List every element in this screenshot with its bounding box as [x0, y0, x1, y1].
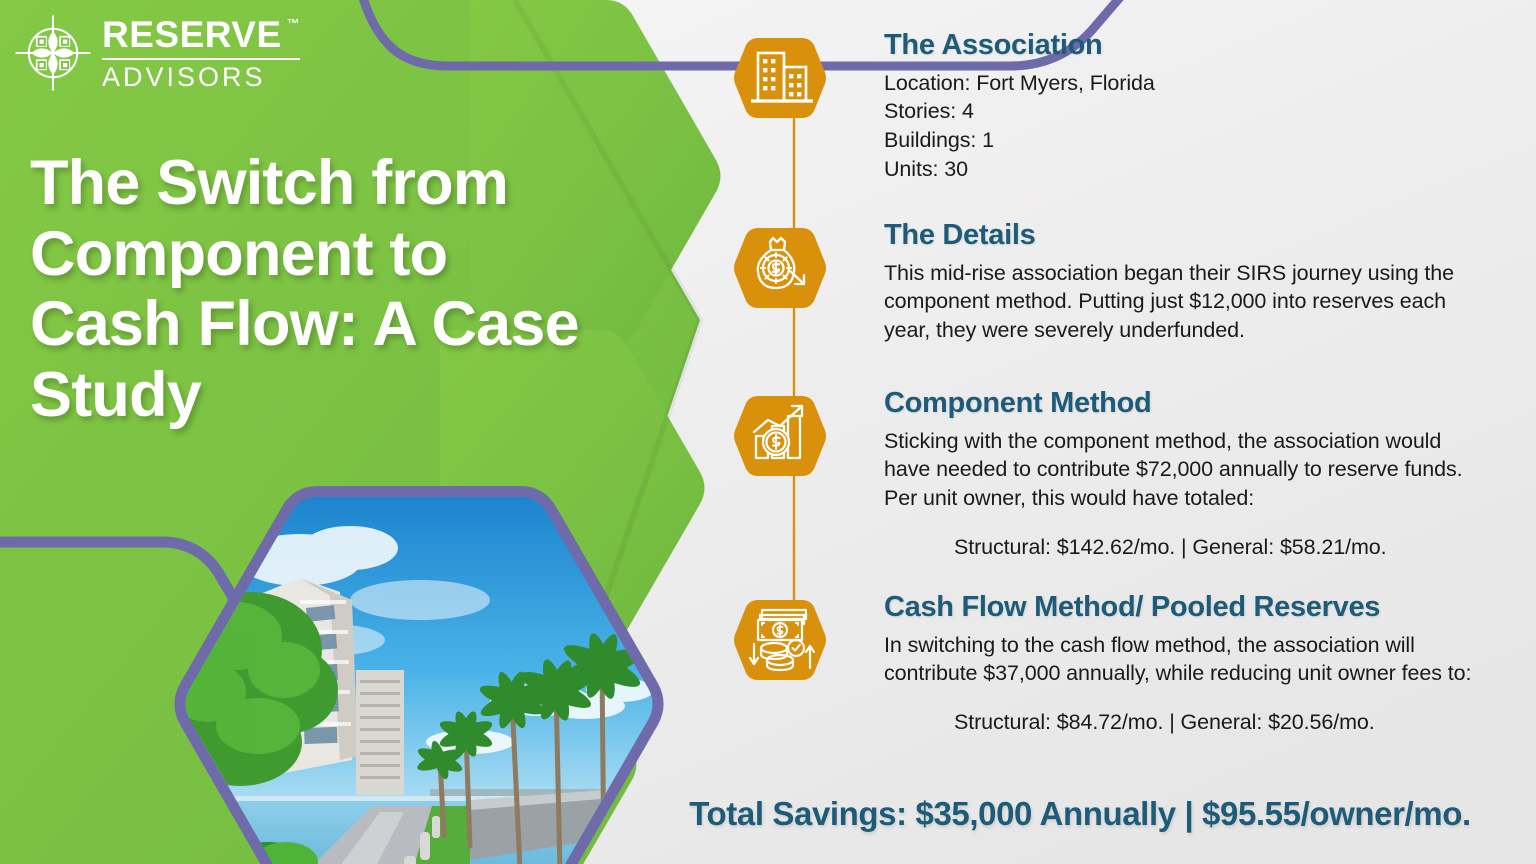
page-title: The Switch from Component to Cash Flow: …: [30, 148, 590, 430]
step-body-text: In switching to the cash flow method, th…: [884, 631, 1484, 688]
step-note-text: Structural: $84.72/mo. | General: $20.56…: [884, 708, 1484, 737]
logo-word: RESERVE ™: [102, 16, 300, 53]
cash-coins-exchange-icon: [734, 592, 826, 688]
office-buildings-icon: [734, 30, 826, 126]
total-savings-summary: Total Savings: $35,000 Annually | $95.55…: [640, 795, 1520, 833]
step-title: Component Method: [884, 388, 1484, 420]
growth-chart-coin-icon: [734, 388, 826, 484]
trademark-symbol: ™: [287, 17, 300, 30]
step-title: The Association: [884, 30, 1444, 62]
logo-subtitle: ADVISORS: [102, 64, 300, 91]
infographic-canvas: RESERVE ™ ADVISORS The Switch from Compo…: [0, 0, 1536, 864]
reserve-advisors-compass-logo-icon: [14, 14, 92, 92]
brand-logo[interactable]: RESERVE ™ ADVISORS: [14, 14, 300, 92]
step-body-text: Location: Fort Myers, Florida Stories: 4…: [884, 69, 1444, 183]
logo-word-text: RESERVE: [102, 14, 282, 55]
step-body-text: This mid-rise association began their SI…: [884, 259, 1484, 345]
step-title: The Details: [884, 220, 1484, 252]
logo-divider: [102, 58, 300, 60]
logo-wordmark: RESERVE ™ ADVISORS: [102, 16, 300, 91]
money-bag-decline-icon: [734, 220, 826, 316]
step-title: Cash Flow Method/ Pooled Reserves: [884, 592, 1484, 624]
step-note-text: Structural: $142.62/mo. | General: $58.2…: [884, 533, 1484, 562]
step-body-text: Sticking with the component method, the …: [884, 427, 1484, 513]
timeline-list: The Association Location: Fort Myers, Fl…: [734, 0, 1536, 864]
